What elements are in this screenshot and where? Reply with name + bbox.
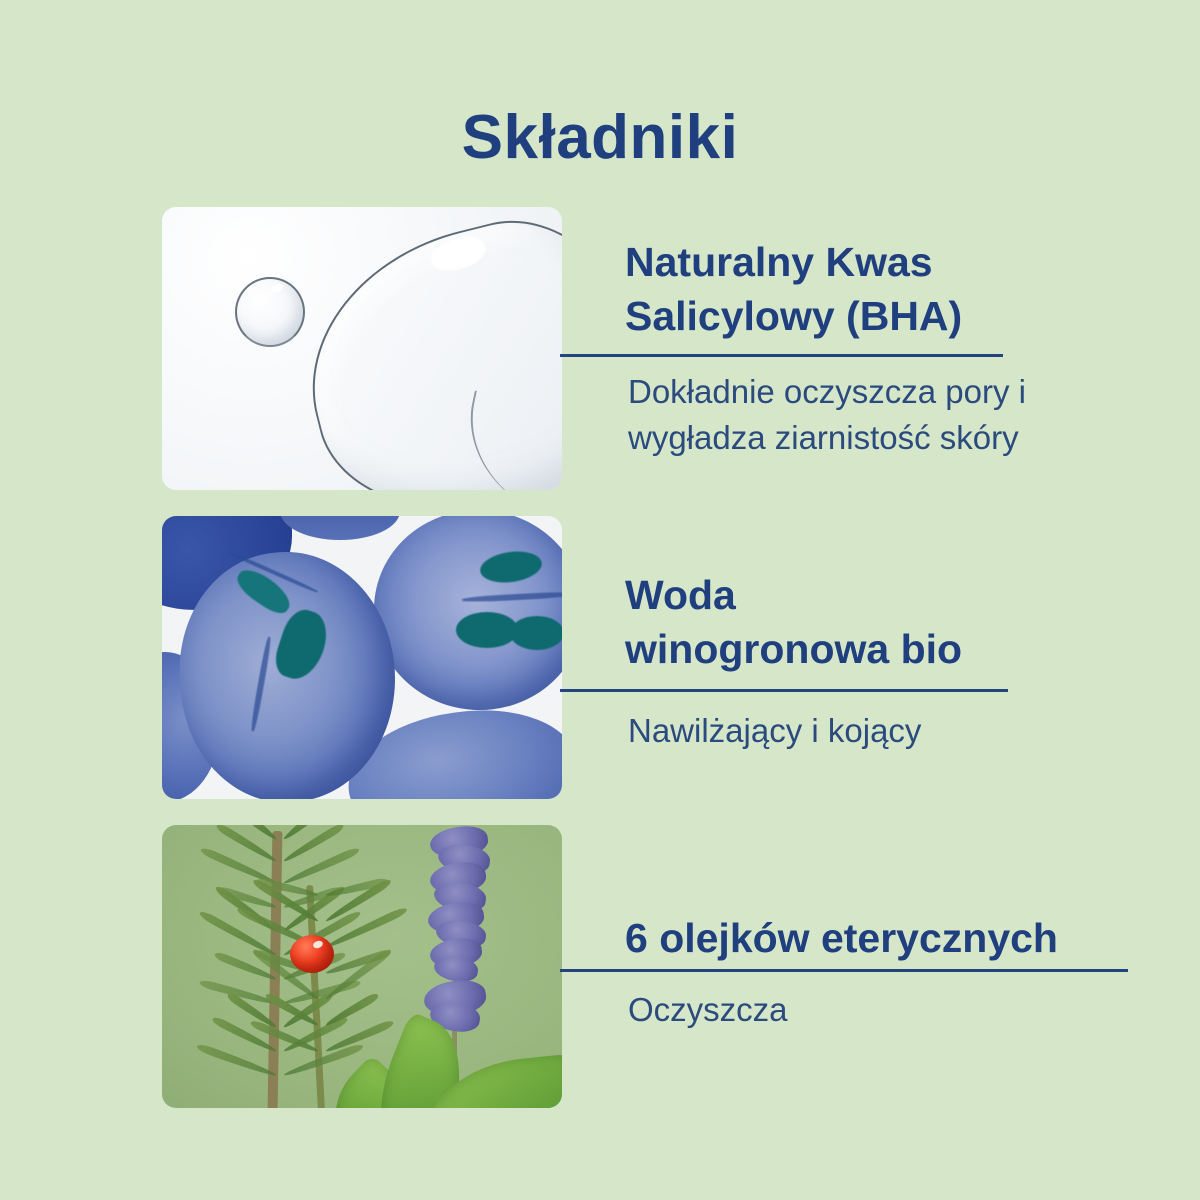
ingredient-text-3: 6 olejków eterycznych Oczyszcza bbox=[560, 825, 1160, 1108]
grape-seed bbox=[456, 612, 518, 648]
ingredient-item-3: 6 olejków eterycznych Oczyszcza bbox=[0, 825, 1200, 1108]
ingredient-image-3 bbox=[162, 825, 562, 1108]
clear-gel-droplets-photo bbox=[162, 207, 562, 490]
gel-small-droplet bbox=[235, 277, 305, 347]
ingredient-divider-1 bbox=[560, 354, 1003, 357]
ingredient-text-1: Naturalny Kwas Salicylowy (BHA) Dokładni… bbox=[560, 207, 1160, 490]
red-berry bbox=[290, 935, 334, 973]
page-title: Składniki bbox=[0, 104, 1200, 172]
ingredient-item-1: Naturalny Kwas Salicylowy (BHA) Dokładni… bbox=[0, 207, 1200, 490]
ingredient-image-2 bbox=[162, 516, 562, 799]
ingredient-description-3: Oczyszcza bbox=[628, 987, 788, 1033]
ingredient-title-1: Naturalny Kwas Salicylowy (BHA) bbox=[625, 235, 962, 343]
herbs-rosemary-lavender-mint-photo bbox=[162, 825, 562, 1108]
ingredient-divider-2 bbox=[560, 689, 1008, 692]
ingredient-description-1: Dokładnie oczyszcza pory i wygładza ziar… bbox=[628, 369, 1026, 460]
ingredient-image-1 bbox=[162, 207, 562, 490]
ingredient-title-3: 6 olejków eterycznych bbox=[625, 911, 1058, 965]
ingredient-title-2: Woda winogronowa bio bbox=[625, 568, 962, 676]
rosemary-needle bbox=[324, 992, 380, 1029]
ingredient-divider-3 bbox=[560, 969, 1128, 972]
ingredient-description-2: Nawilżający i kojący bbox=[628, 708, 921, 754]
grape-shape bbox=[280, 516, 400, 540]
blue-grapes-macro-photo bbox=[162, 516, 562, 799]
ingredient-item-2: Woda winogronowa bio Nawilżający i kojąc… bbox=[0, 516, 1200, 799]
grape-seed bbox=[510, 616, 562, 650]
ingredient-text-2: Woda winogronowa bio Nawilżający i kojąc… bbox=[560, 516, 1160, 799]
